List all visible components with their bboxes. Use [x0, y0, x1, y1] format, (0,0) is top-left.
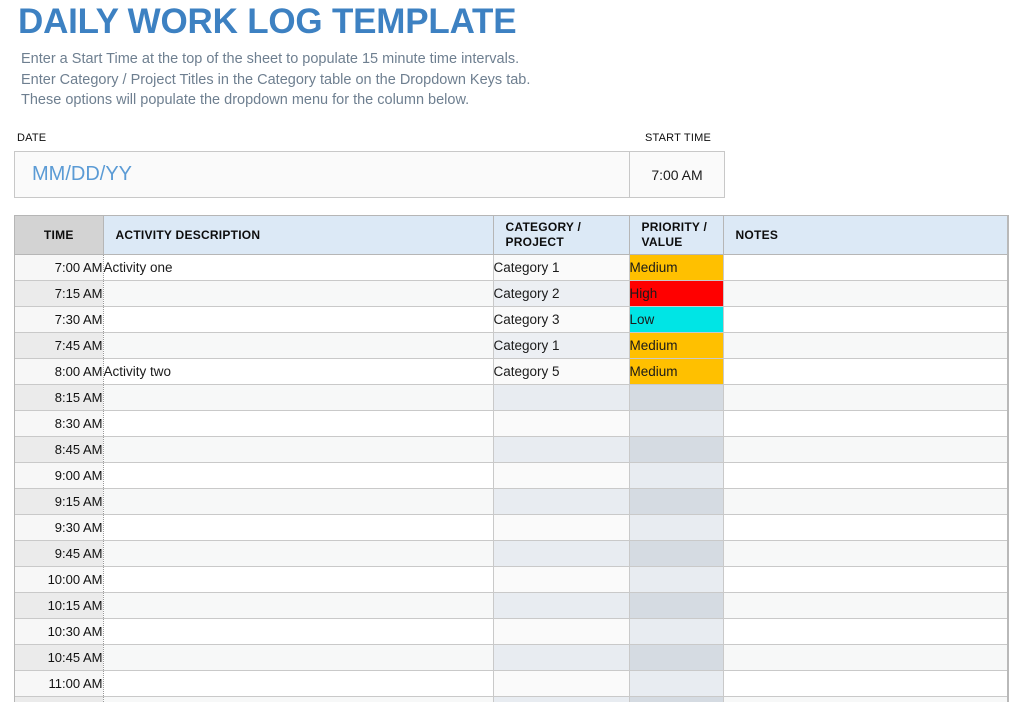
cell-priority-value[interactable]: [629, 437, 723, 463]
cell-category-project[interactable]: [493, 593, 629, 619]
table-row: 10:30 AM: [15, 619, 1008, 645]
cell-activity-description[interactable]: [103, 281, 493, 307]
cell-priority-value[interactable]: [629, 671, 723, 697]
column-header-category-line1: CATEGORY /: [506, 220, 629, 235]
date-input[interactable]: MM/DD/YY: [15, 152, 630, 197]
cell-category-project[interactable]: [493, 463, 629, 489]
table-row: 9:45 AM: [15, 541, 1008, 567]
table-row: 10:15 AM: [15, 593, 1008, 619]
cell-notes[interactable]: [723, 359, 1008, 385]
table-row: 11:00 AM: [15, 671, 1008, 697]
cell-notes[interactable]: [723, 697, 1008, 702]
column-header-priority: PRIORITY / VALUE: [629, 216, 723, 255]
meta-labels: DATE START TIME: [14, 132, 725, 146]
cell-notes[interactable]: [723, 515, 1008, 541]
cell-category-project[interactable]: [493, 697, 629, 702]
work-log-table-container: TIME ACTIVITY DESCRIPTION CATEGORY / PRO…: [14, 215, 1009, 702]
instruction-line-2: Enter Category / Project Titles in the C…: [21, 70, 530, 91]
cell-notes[interactable]: [723, 541, 1008, 567]
cell-activity-description[interactable]: [103, 697, 493, 702]
cell-category-project[interactable]: Category 3: [493, 307, 629, 333]
cell-time: 8:00 AM: [15, 359, 103, 385]
cell-activity-description[interactable]: Activity two: [103, 359, 493, 385]
cell-time: 10:45 AM: [15, 645, 103, 671]
cell-time: 7:15 AM: [15, 281, 103, 307]
start-time-input[interactable]: 7:00 AM: [630, 152, 724, 197]
column-header-notes: NOTES: [723, 216, 1008, 255]
cell-notes[interactable]: [723, 489, 1008, 515]
cell-notes[interactable]: [723, 463, 1008, 489]
table-row: 7:45 AMCategory 1Medium: [15, 333, 1008, 359]
cell-category-project[interactable]: [493, 645, 629, 671]
table-row: 9:00 AM: [15, 463, 1008, 489]
instructions-block: Enter a Start Time at the top of the she…: [21, 49, 530, 111]
cell-category-project[interactable]: [493, 385, 629, 411]
cell-time: 9:00 AM: [15, 463, 103, 489]
table-row: 8:15 AM: [15, 385, 1008, 411]
cell-activity-description[interactable]: [103, 489, 493, 515]
cell-category-project[interactable]: [493, 619, 629, 645]
cell-category-project[interactable]: [493, 411, 629, 437]
work-log-table-body: 7:00 AMActivity oneCategory 1Medium7:15 …: [15, 255, 1008, 702]
table-header-row: TIME ACTIVITY DESCRIPTION CATEGORY / PRO…: [15, 216, 1008, 255]
cell-priority-value[interactable]: [629, 515, 723, 541]
cell-priority-value[interactable]: [629, 385, 723, 411]
cell-category-project[interactable]: Category 5: [493, 359, 629, 385]
cell-notes[interactable]: [723, 645, 1008, 671]
daily-work-log-page: DAILY WORK LOG TEMPLATE Enter a Start Ti…: [0, 0, 1028, 702]
cell-time: 7:00 AM: [15, 255, 103, 281]
instruction-line-1: Enter a Start Time at the top of the she…: [21, 49, 530, 70]
cell-priority-value[interactable]: [629, 593, 723, 619]
cell-activity-description[interactable]: [103, 333, 493, 359]
table-row: 10:00 AM: [15, 567, 1008, 593]
table-row: 7:15 AMCategory 2High: [15, 281, 1008, 307]
cell-activity-description[interactable]: Activity one: [103, 255, 493, 281]
cell-priority-value[interactable]: Low: [629, 307, 723, 333]
cell-time: 8:15 AM: [15, 385, 103, 411]
work-log-table: TIME ACTIVITY DESCRIPTION CATEGORY / PRO…: [15, 216, 1008, 702]
instruction-line-3: These options will populate the dropdown…: [21, 90, 530, 111]
column-header-priority-line2: VALUE: [642, 235, 723, 250]
cell-category-project[interactable]: [493, 515, 629, 541]
column-header-category: CATEGORY / PROJECT: [493, 216, 629, 255]
cell-priority-value[interactable]: [629, 645, 723, 671]
table-row: 9:30 AM: [15, 515, 1008, 541]
cell-notes[interactable]: [723, 437, 1008, 463]
cell-time: 9:15 AM: [15, 489, 103, 515]
cell-category-project[interactable]: [493, 567, 629, 593]
table-row: 7:00 AMActivity oneCategory 1Medium: [15, 255, 1008, 281]
table-row: 9:15 AM: [15, 489, 1008, 515]
cell-activity-description[interactable]: [103, 541, 493, 567]
column-header-time: TIME: [15, 216, 103, 255]
cell-activity-description[interactable]: [103, 437, 493, 463]
cell-category-project[interactable]: [493, 489, 629, 515]
cell-priority-value[interactable]: [629, 567, 723, 593]
cell-time: 10:30 AM: [15, 619, 103, 645]
cell-activity-description[interactable]: [103, 385, 493, 411]
table-row: 11:15 AM: [15, 697, 1008, 702]
cell-activity-description[interactable]: [103, 645, 493, 671]
cell-notes[interactable]: [723, 307, 1008, 333]
cell-notes[interactable]: [723, 567, 1008, 593]
cell-time: 10:00 AM: [15, 567, 103, 593]
cell-activity-description[interactable]: [103, 411, 493, 437]
cell-activity-description[interactable]: [103, 515, 493, 541]
cell-time: 11:00 AM: [15, 671, 103, 697]
cell-notes[interactable]: [723, 671, 1008, 697]
cell-activity-description[interactable]: [103, 307, 493, 333]
table-row: 8:45 AM: [15, 437, 1008, 463]
cell-time: 8:45 AM: [15, 437, 103, 463]
page-title: DAILY WORK LOG TEMPLATE: [18, 2, 516, 42]
cell-category-project[interactable]: [493, 437, 629, 463]
cell-priority-value[interactable]: High: [629, 281, 723, 307]
cell-time: 9:30 AM: [15, 515, 103, 541]
cell-activity-description[interactable]: [103, 671, 493, 697]
cell-notes[interactable]: [723, 411, 1008, 437]
cell-activity-description[interactable]: [103, 619, 493, 645]
cell-priority-value[interactable]: [629, 489, 723, 515]
table-row: 8:30 AM: [15, 411, 1008, 437]
cell-activity-description[interactable]: [103, 463, 493, 489]
cell-priority-value[interactable]: Medium: [629, 359, 723, 385]
table-row: 8:00 AMActivity twoCategory 5Medium: [15, 359, 1008, 385]
cell-time: 11:15 AM: [15, 697, 103, 702]
cell-notes[interactable]: [723, 619, 1008, 645]
cell-time: 7:45 AM: [15, 333, 103, 359]
cell-priority-value[interactable]: [629, 541, 723, 567]
cell-time: 8:30 AM: [15, 411, 103, 437]
cell-priority-value[interactable]: [629, 463, 723, 489]
cell-time: 10:15 AM: [15, 593, 103, 619]
table-row: 10:45 AM: [15, 645, 1008, 671]
cell-category-project[interactable]: Category 1: [493, 333, 629, 359]
cell-priority-value[interactable]: Medium: [629, 255, 723, 281]
column-header-priority-line1: PRIORITY /: [642, 220, 723, 235]
cell-time: 7:30 AM: [15, 307, 103, 333]
cell-category-project[interactable]: Category 1: [493, 255, 629, 281]
cell-notes[interactable]: [723, 385, 1008, 411]
cell-priority-value[interactable]: [629, 697, 723, 702]
meta-input-box: MM/DD/YY 7:00 AM: [14, 151, 725, 198]
table-row: 7:30 AMCategory 3Low: [15, 307, 1008, 333]
cell-priority-value[interactable]: [629, 411, 723, 437]
cell-category-project[interactable]: Category 2: [493, 281, 629, 307]
cell-notes[interactable]: [723, 281, 1008, 307]
column-header-activity: ACTIVITY DESCRIPTION: [103, 216, 493, 255]
cell-activity-description[interactable]: [103, 593, 493, 619]
date-label: DATE: [17, 132, 46, 144]
cell-activity-description[interactable]: [103, 567, 493, 593]
cell-priority-value[interactable]: [629, 619, 723, 645]
cell-notes[interactable]: [723, 255, 1008, 281]
cell-notes[interactable]: [723, 593, 1008, 619]
cell-priority-value[interactable]: Medium: [629, 333, 723, 359]
column-header-category-line2: PROJECT: [506, 235, 629, 250]
cell-category-project[interactable]: [493, 671, 629, 697]
cell-time: 9:45 AM: [15, 541, 103, 567]
cell-category-project[interactable]: [493, 541, 629, 567]
start-time-label: START TIME: [645, 132, 711, 144]
cell-notes[interactable]: [723, 333, 1008, 359]
